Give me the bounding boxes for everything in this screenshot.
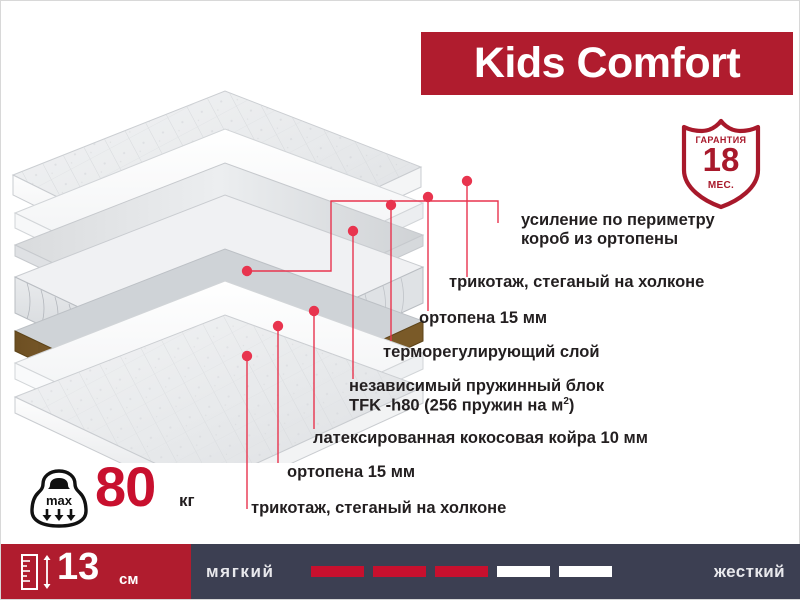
firmness-segment — [435, 566, 488, 577]
label-ortopena-upper: ортопена 15 мм — [419, 309, 547, 327]
label-spring-block-spec: TFK -h80 (256 пружин на м2) — [349, 396, 604, 415]
firmness-segments — [311, 566, 612, 577]
firmness-segment — [497, 566, 550, 577]
label-knit-bottom: трикотаж, стеганый на холконе — [251, 499, 506, 517]
kettlebell-icon: max — [29, 467, 89, 529]
label-coconut-coir: латексированная кокосовая койра 10 мм — [313, 429, 648, 447]
page-title: Kids Comfort — [474, 42, 740, 85]
firmness-scale: мягкий жесткий — [191, 544, 800, 599]
firmness-segment — [373, 566, 426, 577]
height-value: 13 — [57, 548, 99, 586]
firmness-soft-label: мягкий — [206, 562, 275, 582]
infographic-root: Kids Comfort ГАРАНТИЯ 18 МЕС. усиление п… — [0, 0, 800, 600]
firmness-hard-label: жесткий — [714, 562, 785, 582]
firmness-segment — [559, 566, 612, 577]
svg-text:max: max — [46, 493, 73, 508]
ruler-icon — [19, 553, 59, 591]
label-spring-block: независимый пружинный блок TFK -h80 (256… — [349, 377, 604, 415]
label-ortopena-lower: ортопена 15 мм — [287, 463, 415, 481]
max-weight-badge: max 80 кг — [27, 465, 217, 531]
height-badge: 13 см — [1, 544, 191, 599]
bottom-bar: 13 см мягкий жесткий — [1, 544, 800, 599]
product-title-banner: Kids Comfort — [421, 32, 793, 95]
warranty-bottom-label: МЕС. — [678, 180, 764, 191]
label-knit-top: трикотаж, стеганый на холконе — [449, 273, 704, 291]
max-weight-unit: кг — [179, 491, 195, 511]
warranty-badge: ГАРАНТИЯ 18 МЕС. — [678, 118, 764, 210]
label-thermoregulating: терморегулирующий слой — [383, 343, 599, 361]
height-unit: см — [119, 571, 138, 588]
max-weight-value: 80 — [95, 459, 155, 515]
label-perimeter-box: усиление по периметру короб из ортопены — [521, 211, 715, 249]
firmness-segment — [311, 566, 364, 577]
warranty-months-value: 18 — [678, 143, 764, 176]
